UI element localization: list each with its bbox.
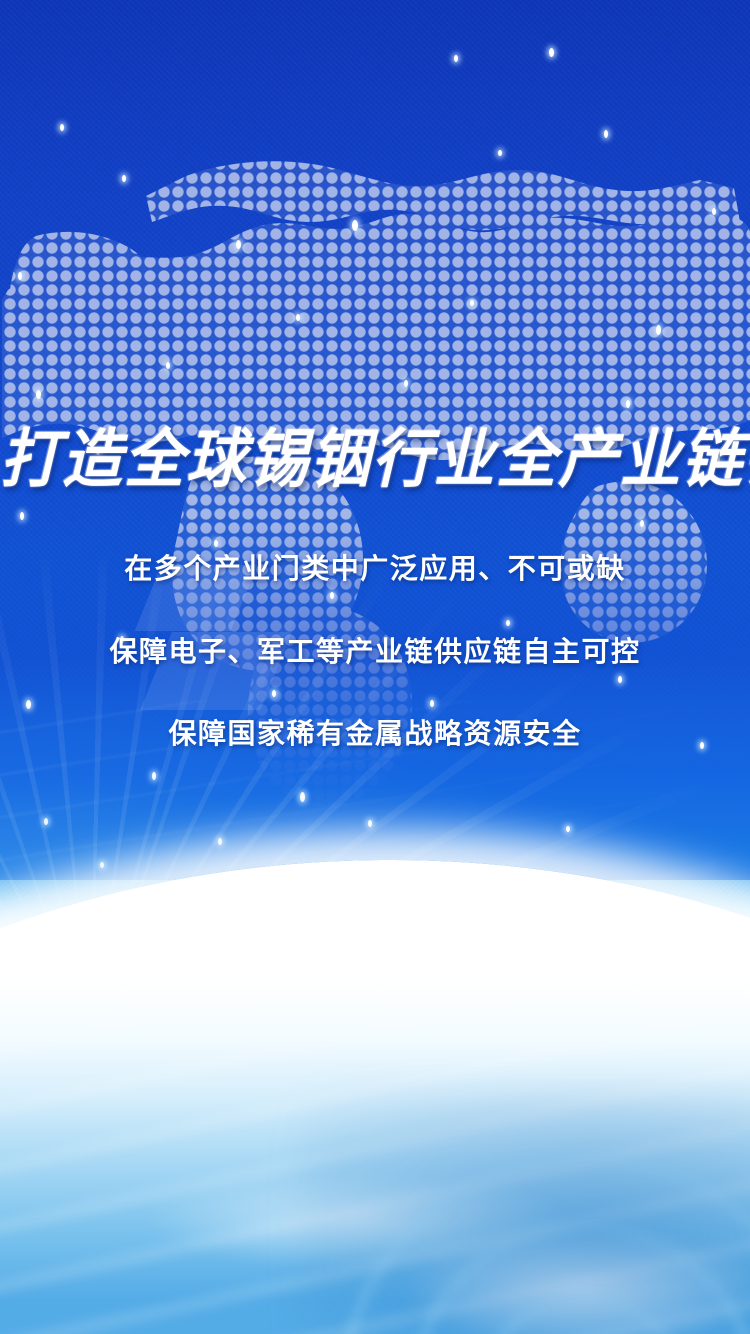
subtitle-line-3: 保障国家稀有金属战略资源安全 (0, 717, 750, 751)
poster-content: 打造全球锡铟行业全产业链链主 在多个产业门类中广泛应用、不可或缺 保障电子、军工… (0, 0, 750, 1334)
subtitle-line-1: 在多个产业门类中广泛应用、不可或缺 (0, 552, 750, 586)
subtitle-list: 在多个产业门类中广泛应用、不可或缺 保障电子、军工等产业链供应链自主可控 保障国… (0, 552, 750, 751)
page-title: 打造全球锡铟行业全产业链链主 (0, 420, 750, 501)
poster-canvas: 打造全球锡铟行业全产业链链主 在多个产业门类中广泛应用、不可或缺 保障电子、军工… (0, 0, 750, 1334)
subtitle-line-2: 保障电子、军工等产业链供应链自主可控 (0, 635, 750, 669)
